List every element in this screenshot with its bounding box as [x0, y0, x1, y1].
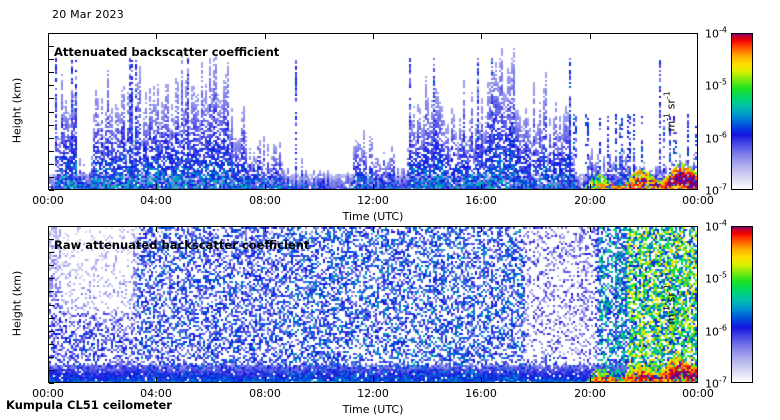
y-tick-mark — [49, 265, 54, 266]
x-tick-label: 12:00 — [357, 387, 389, 400]
colorbar-tick-label: 10-7 — [689, 183, 727, 198]
x-tick-mark — [373, 184, 374, 189]
x-tick-mark — [590, 227, 591, 232]
colorbar-attenuated-backscatter — [731, 33, 753, 190]
x-tick-mark — [265, 227, 266, 232]
x-tick-mark — [156, 34, 157, 39]
x-tick-mark — [481, 184, 482, 189]
y-tick-mark — [49, 291, 54, 292]
x-tick-label: 16:00 — [465, 387, 497, 400]
x-tick-label: 00:00 — [32, 194, 64, 207]
x-tick-mark — [590, 377, 591, 382]
x-tick-mark — [481, 34, 482, 39]
x-tick-label: 20:00 — [574, 194, 606, 207]
y-tick-mark — [49, 151, 54, 152]
panel-title-attenuated-backscatter: Attenuated backscatter coefficient — [54, 45, 279, 59]
x-axis-label: Time (UTC) — [343, 210, 404, 223]
ceilometer-figure: 20 Mar 2023 Attenuated backscatter coeff… — [0, 0, 780, 420]
x-axis-label: Time (UTC) — [343, 403, 404, 416]
colorbar-tick-label: 10-4 — [689, 26, 727, 41]
x-tick-label: 04:00 — [140, 194, 172, 207]
x-tick-mark — [156, 227, 157, 232]
colorbar-tick-label: 10-4 — [689, 219, 727, 234]
y-tick-mark — [49, 190, 54, 191]
x-tick-mark — [265, 34, 266, 39]
colorbar-tick-label: 10-6 — [689, 131, 727, 146]
colorbar-unit-label: m-1 sr-1 — [663, 76, 678, 146]
x-tick-mark — [156, 377, 157, 382]
x-tick-mark — [481, 227, 482, 232]
x-tick-mark — [373, 227, 374, 232]
y-tick-mark — [49, 318, 54, 319]
x-tick-mark — [265, 184, 266, 189]
colorbar-tick-label: 10-7 — [689, 376, 727, 391]
y-tick-mark — [49, 357, 54, 358]
y-tick-mark — [49, 226, 54, 227]
x-tick-label: 16:00 — [465, 194, 497, 207]
y-tick-mark — [49, 85, 54, 86]
x-tick-mark — [373, 34, 374, 39]
y-tick-mark — [49, 278, 54, 279]
y-tick-mark — [49, 33, 54, 34]
colorbar-tick-label: 10-5 — [689, 271, 727, 286]
y-tick-mark — [49, 164, 54, 165]
x-tick-mark — [590, 34, 591, 39]
y-axis-label: Height (km) — [11, 75, 24, 145]
x-tick-label: 12:00 — [357, 194, 389, 207]
y-tick-mark — [49, 344, 54, 345]
x-tick-label: 20:00 — [574, 387, 606, 400]
y-tick-mark — [49, 138, 54, 139]
x-tick-mark — [590, 184, 591, 189]
y-axis-label: Height (km) — [11, 268, 24, 338]
y-tick-mark — [49, 331, 54, 332]
x-tick-label: 08:00 — [249, 387, 281, 400]
y-tick-mark — [49, 112, 54, 113]
x-tick-mark — [265, 377, 266, 382]
x-tick-mark — [481, 377, 482, 382]
x-tick-label: 08:00 — [249, 194, 281, 207]
footer-label: Kumpula CL51 ceilometer — [6, 398, 172, 412]
x-tick-mark — [373, 377, 374, 382]
y-tick-mark — [49, 383, 54, 384]
date-label: 20 Mar 2023 — [52, 8, 124, 21]
y-tick-mark — [49, 72, 54, 73]
y-tick-mark — [49, 125, 54, 126]
panel-title-raw-attenuated-backscatter: Raw attenuated backscatter coefficient — [54, 238, 309, 252]
y-tick-mark — [49, 370, 54, 371]
y-tick-mark — [49, 177, 54, 178]
y-tick-mark — [49, 98, 54, 99]
x-tick-mark — [156, 184, 157, 189]
colorbar-tick-label: 10-5 — [689, 78, 727, 93]
colorbar-unit-label: m-1 sr-1 — [663, 269, 678, 339]
colorbar-tick-label: 10-6 — [689, 324, 727, 339]
y-tick-mark — [49, 305, 54, 306]
colorbar-raw-attenuated-backscatter — [731, 226, 753, 383]
